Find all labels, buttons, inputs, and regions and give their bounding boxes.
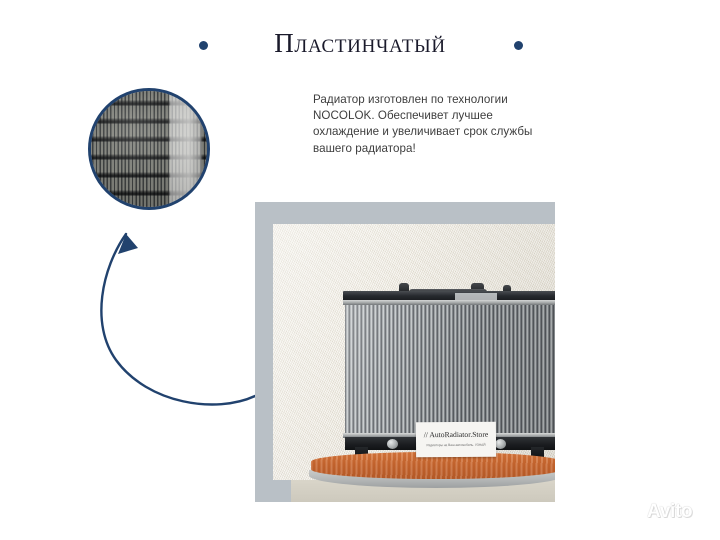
title-row: Пластинчатый — [0, 26, 720, 66]
shop-info-card: // AutoRadiator.Store Радиаторы на Ваш а… — [416, 422, 496, 458]
photo-wall-background: // AutoRadiator.Store Радиаторы на Ваш а… — [273, 224, 555, 480]
product-photo: // AutoRadiator.Store Радиаторы на Ваш а… — [255, 202, 555, 502]
avito-watermark: Avito — [622, 498, 692, 524]
slide-canvas: Пластинчатый Радиатор изготовлен по техн… — [0, 0, 720, 540]
radiator-core-shading — [345, 305, 555, 434]
radiator-sticker — [455, 293, 497, 300]
body-paragraph: Радиатор изготовлен по технологии NOCOLO… — [313, 92, 545, 157]
title-dot-right-icon — [514, 41, 523, 50]
fin-closeup-shading — [91, 91, 207, 207]
avito-circles-logo-icon — [622, 501, 644, 521]
avito-watermark-label: Avito — [647, 502, 692, 521]
radiator-core — [345, 305, 555, 434]
page-title: Пластинчатый — [0, 26, 720, 60]
curved-arrow-icon — [96, 196, 266, 412]
radiator-fitting-right — [495, 439, 506, 449]
shop-card-subtitle: Радиаторы на Ваш автомобиль. УЗНАЙ — [416, 443, 496, 448]
fin-closeup-inset — [88, 88, 210, 210]
radiator-fitting-left — [387, 439, 398, 449]
shop-card-title: // AutoRadiator.Store — [416, 430, 496, 440]
